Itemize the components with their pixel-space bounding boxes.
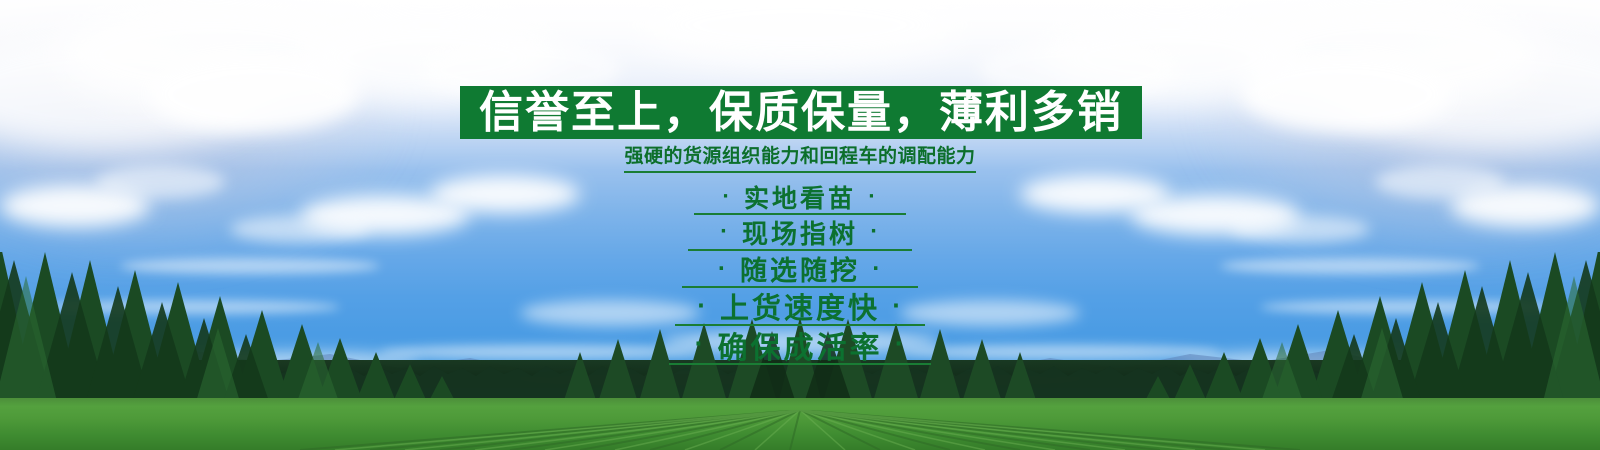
feature-item: · 上货速度快 · <box>675 288 925 326</box>
subtitle-row: 强硬的货源组织能力和回程车的调配能力 <box>0 145 1600 173</box>
feature-item: · 现场指树 · <box>688 215 912 251</box>
bullet-dot-right: · <box>890 296 905 317</box>
feature-item: · 实地看苗 · <box>694 180 906 215</box>
feature-item: · 确保成活率 · <box>669 326 931 365</box>
subtitle-text: 强硬的货源组织能力和回程车的调配能力 <box>624 145 975 173</box>
banner-content: 信誉至上，保质保量，薄利多销 强硬的货源组织能力和回程车的调配能力 · 实地看苗… <box>0 0 1600 450</box>
bullet-dot-right: · <box>870 259 884 278</box>
feature-label: 实地看苗 <box>734 179 866 215</box>
headline-text: 信誉至上，保质保量，薄利多销 <box>479 91 1123 135</box>
bullet-dot-right: · <box>868 223 882 242</box>
headline-plaque: 信誉至上，保质保量，薄利多销 <box>460 86 1142 139</box>
feature-label: 现场指树 <box>732 214 868 251</box>
feature-item: · 随选随挖 · <box>682 251 918 288</box>
bullet-dot-left: · <box>720 188 734 206</box>
feature-list: · 实地看苗 · · 现场指树 · · 随选随挖 · · 上货速度快 · · <box>0 180 1600 365</box>
bullet-dot-left: · <box>716 259 730 278</box>
feature-label: 随选随挖 <box>730 249 870 288</box>
feature-label: 确保成活率 <box>708 323 893 367</box>
bullet-dot-right: · <box>893 334 908 356</box>
bullet-dot-left: · <box>718 223 732 242</box>
bullet-dot-left: · <box>692 334 707 356</box>
bullet-dot-right: · <box>866 188 880 206</box>
feature-label: 上货速度快 <box>710 285 890 327</box>
promotional-banner: 信誉至上，保质保量，薄利多销 强硬的货源组织能力和回程车的调配能力 · 实地看苗… <box>0 0 1600 450</box>
bullet-dot-left: · <box>695 296 710 317</box>
